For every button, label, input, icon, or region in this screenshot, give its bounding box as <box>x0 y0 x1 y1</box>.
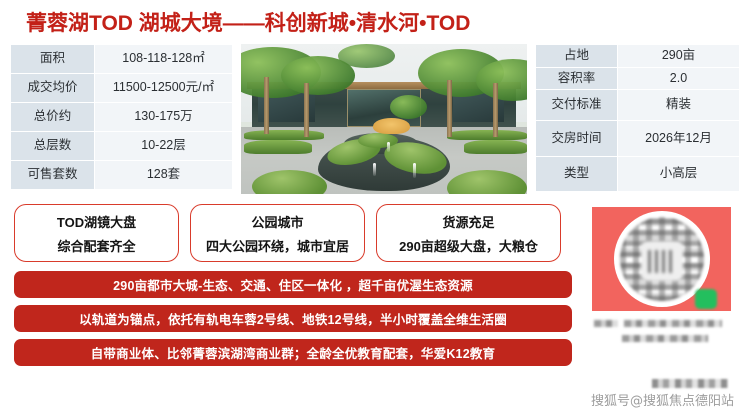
highlight-banner-commerce-education: 自带商业体、比邻菁蓉滨湖湾商业群；全龄全优教育配套，华爱K12教育 <box>14 339 572 366</box>
photo-tree-trunk <box>493 83 498 137</box>
left-spec-table: 面积 108-118-128㎡ 成交均价 11500-12500元/㎡ 总价约 … <box>10 44 233 190</box>
spec-label: 容积率 <box>536 68 618 90</box>
photo-hedge <box>244 140 313 154</box>
top-section: 面积 108-118-128㎡ 成交均价 11500-12500元/㎡ 总价约 … <box>0 44 740 196</box>
spec-label: 面积 <box>11 45 95 74</box>
photo-tree-trunk <box>447 80 452 137</box>
photo-tree-trunk <box>264 77 269 134</box>
table-row: 总价约 130-175万 <box>11 103 233 132</box>
watermark-text: 搜狐号@搜狐焦点德阳站 <box>591 390 734 409</box>
feature-box-title: 公园城市 <box>251 212 303 231</box>
spec-value: 108-118-128㎡ <box>95 45 233 74</box>
feature-box-supply: 货源充足 290亩超级大盘，大粮仓 <box>376 204 561 262</box>
table-row: 可售套数 128套 <box>11 161 233 190</box>
spec-value: 2026年12月 <box>618 121 740 157</box>
photo-illustration <box>241 44 527 194</box>
photo-fountain-jet <box>387 142 390 153</box>
spec-label: 可售套数 <box>11 161 95 190</box>
spec-label: 总层数 <box>11 132 95 161</box>
feature-box-group: TOD湖镜大盘 综合配套齐全 公园城市 四大公园环绕，城市宜居 货源充足 290… <box>0 196 572 262</box>
table-row: 交房时间 2026年12月 <box>536 121 740 157</box>
table-row: 总层数 10-22层 <box>11 132 233 161</box>
photo-fountain-jet <box>413 163 416 178</box>
photo-tree-canopy <box>390 95 427 119</box>
right-spec-table: 占地 290亩 容积率 2.0 交付标准 精装 交房时间 2026年12月 类型… <box>535 44 740 192</box>
qr-code-card[interactable] <box>592 207 731 311</box>
table-row: 面积 108-118-128㎡ <box>11 45 233 74</box>
highlight-banner-transit: 以轨道为锚点，依托有轨电车蓉2号线、地铁12号线，半小时覆盖全维生活圈 <box>14 305 572 332</box>
table-row: 成交均价 11500-12500元/㎡ <box>11 74 233 103</box>
feature-box-title: 货源充足 <box>442 212 494 231</box>
project-photo <box>241 44 527 194</box>
table-row: 占地 290亩 <box>536 45 740 68</box>
photo-hedge <box>464 140 527 154</box>
photo-flower-arrangement <box>373 118 410 135</box>
spec-value: 11500-12500元/㎡ <box>95 74 233 103</box>
page-header: 菁蓉湖TOD 湖城大境——科创新城•清水河•TOD <box>0 0 740 44</box>
photo-lawn-mound <box>358 133 398 148</box>
highlight-banner-group: 290亩都市大城-生态、交通、住区一体化 ，超千亩优渥生态资源 以轨道为锚点，依… <box>0 262 572 366</box>
feature-box-title: TOD湖镜大盘 <box>57 212 136 231</box>
photo-tree-canopy <box>338 44 395 68</box>
spec-value: 10-22层 <box>95 132 233 161</box>
spec-value: 130-175万 <box>95 103 233 132</box>
spec-value: 2.0 <box>618 68 740 90</box>
table-row: 容积率 2.0 <box>536 68 740 90</box>
qr-code-center <box>641 241 683 281</box>
spec-label: 交付标准 <box>536 90 618 121</box>
spec-label: 交房时间 <box>536 121 618 157</box>
photo-tree-trunk <box>304 83 309 137</box>
spec-value: 精装 <box>618 90 740 121</box>
highlight-banner-ecology: 290亩都市大城-生态、交通、住区一体化 ，超千亩优渥生态资源 <box>14 271 572 298</box>
spec-label: 占地 <box>536 45 618 68</box>
page-title: 菁蓉湖TOD 湖城大境——科创新城•清水河•TOD <box>26 7 470 37</box>
spec-label: 总价约 <box>11 103 95 132</box>
table-row: 类型 小高层 <box>536 157 740 192</box>
feature-box-subtitle: 综合配套齐全 <box>57 236 135 255</box>
redacted-text-block <box>622 335 708 342</box>
redacted-text-block <box>624 320 722 327</box>
photo-hedge <box>447 130 527 141</box>
qr-contact-panel[interactable] <box>592 207 731 346</box>
redacted-text-block <box>594 320 618 327</box>
spec-value: 小高层 <box>618 157 740 192</box>
feature-box-tod: TOD湖镜大盘 综合配套齐全 <box>14 204 179 262</box>
qr-caption-redacted <box>592 311 731 342</box>
photo-hedge <box>244 130 324 141</box>
spec-label: 类型 <box>536 157 618 192</box>
photo-fountain-jet <box>373 163 376 177</box>
spec-label: 成交均价 <box>11 74 95 103</box>
spec-value: 128套 <box>95 161 233 190</box>
feature-box-subtitle: 四大公园环绕，城市宜居 <box>206 236 349 255</box>
watermark-redacted-block <box>652 379 728 388</box>
spec-value: 290亩 <box>618 45 740 68</box>
wechat-badge-icon <box>695 289 717 309</box>
feature-box-park-city: 公园城市 四大公园环绕，城市宜居 <box>190 204 365 262</box>
table-row: 交付标准 精装 <box>536 90 740 121</box>
feature-box-subtitle: 290亩超级大盘，大粮仓 <box>399 236 538 255</box>
